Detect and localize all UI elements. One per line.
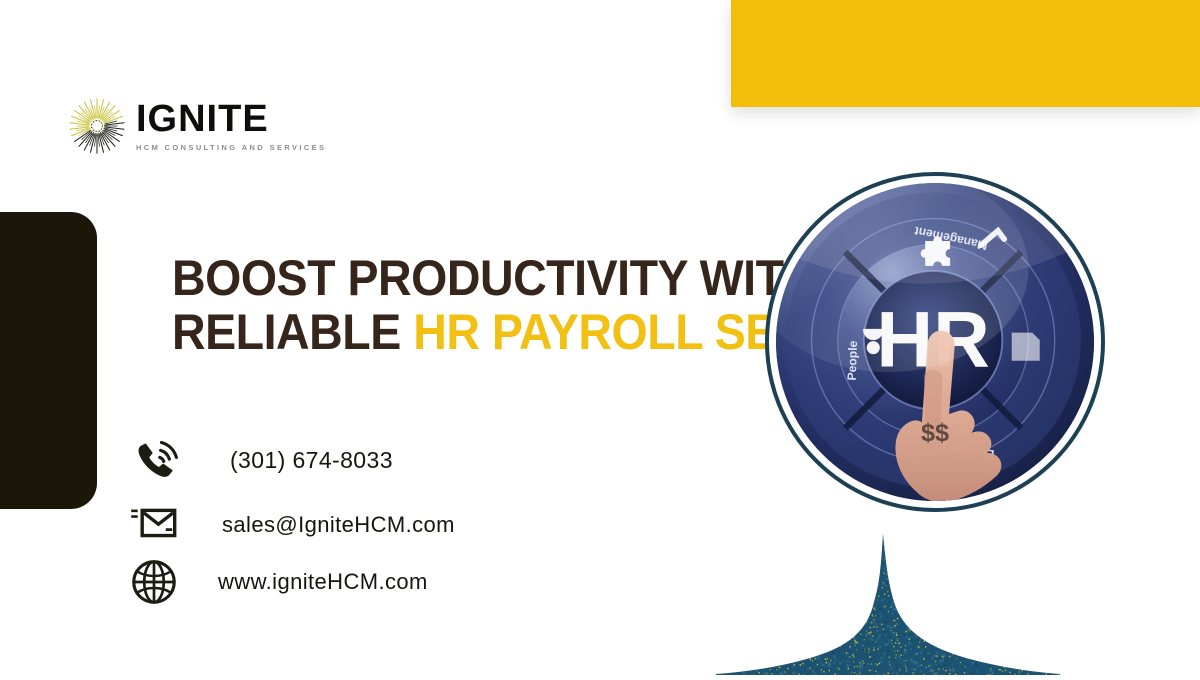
- headline-line-2-plain: RELIABLE: [172, 304, 413, 360]
- headline: BOOST PRODUCTIVITY WITH RELIABLE HR PAYR…: [172, 252, 772, 358]
- contact-row-email[interactable]: sales@IgniteHCM.com: [130, 504, 455, 546]
- email-address: sales@IgniteHCM.com: [192, 512, 455, 538]
- headline-line-1: BOOST PRODUCTIVITY WITH: [172, 252, 730, 304]
- svg-text:$$: $$: [921, 419, 949, 447]
- contact-row-website[interactable]: www.igniteHCM.com: [130, 558, 455, 606]
- logo-wordmark: IGNITE: [136, 100, 326, 138]
- headline-line-2: RELIABLE HR PAYROLL SERVICES: [172, 306, 730, 358]
- logo-tagline: HCM CONSULTING AND SERVICES: [136, 143, 326, 152]
- contact-row-phone[interactable]: (301) 674-8033: [130, 432, 455, 488]
- speckled-spire-graphic: [716, 534, 1060, 675]
- website-url: www.igniteHCM.com: [192, 569, 428, 595]
- sunburst-icon: {"n":56}: [62, 92, 132, 160]
- contact-list: (301) 674-8033 sales@IgniteHCM.com: [130, 432, 455, 618]
- globe-icon: [130, 558, 192, 606]
- phone-number: (301) 674-8033: [192, 447, 393, 474]
- dark-rounded-block: [0, 212, 97, 509]
- hr-dial-photo: HR Management People Economy: [765, 172, 1105, 512]
- phone-ringing-icon: [130, 432, 192, 488]
- yellow-accent-block: [731, 0, 1200, 107]
- brand-logo[interactable]: {"n":56} IGNITE HCM CONSULTING AND SERVI…: [62, 92, 326, 160]
- envelope-icon: [130, 504, 192, 546]
